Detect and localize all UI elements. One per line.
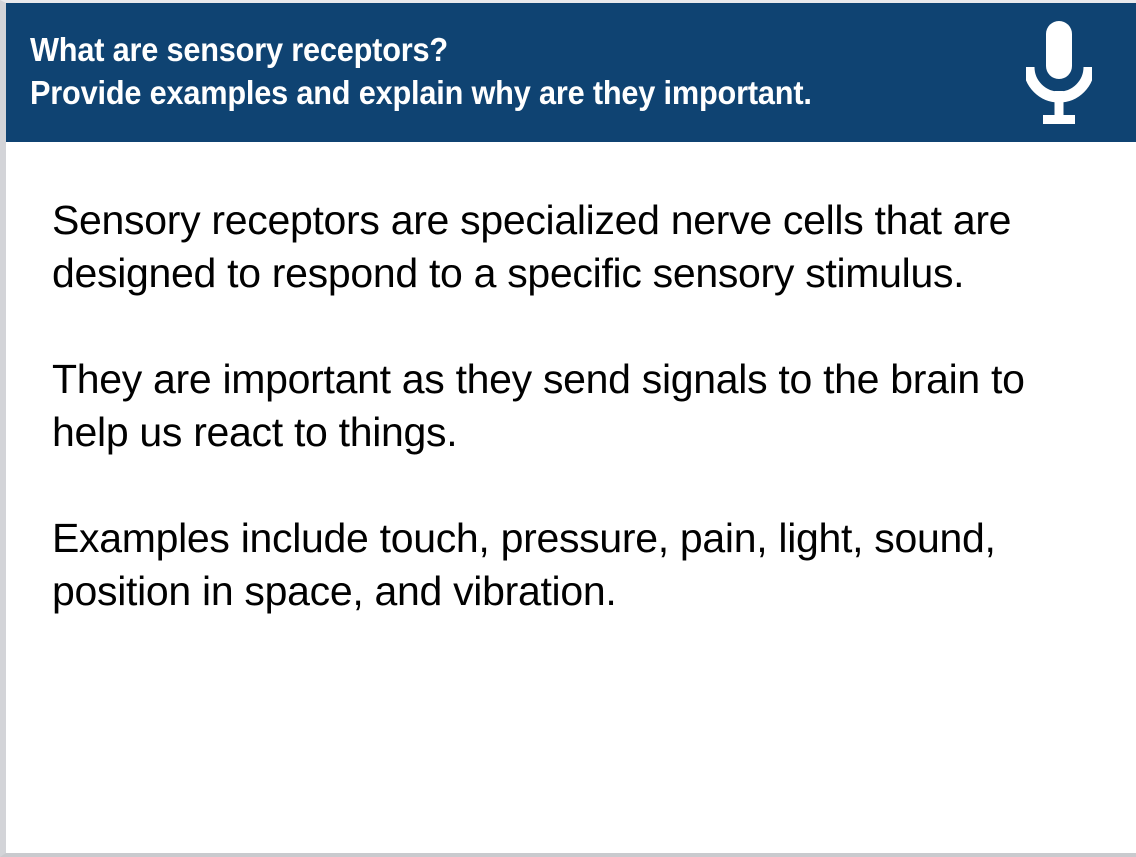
body-paragraph-1: Sensory receptors are specialized nerve …: [52, 194, 1027, 300]
slide-body: Sensory receptors are specialized nerve …: [6, 142, 1136, 853]
body-paragraph-2: They are important as they send signals …: [52, 353, 1027, 459]
microphone-icon: [1026, 19, 1092, 127]
header-title-group: What are sensory receptors? Provide exam…: [30, 29, 871, 116]
body-paragraph-3: Examples include touch, pressure, pain, …: [52, 512, 1027, 618]
header-title-line-1: What are sensory receptors?: [30, 29, 812, 71]
slide-header-banner: What are sensory receptors? Provide exam…: [6, 3, 1136, 142]
header-title-line-2: Provide examples and explain why are the…: [30, 72, 812, 114]
slide-container: What are sensory receptors? Provide exam…: [0, 0, 1136, 857]
